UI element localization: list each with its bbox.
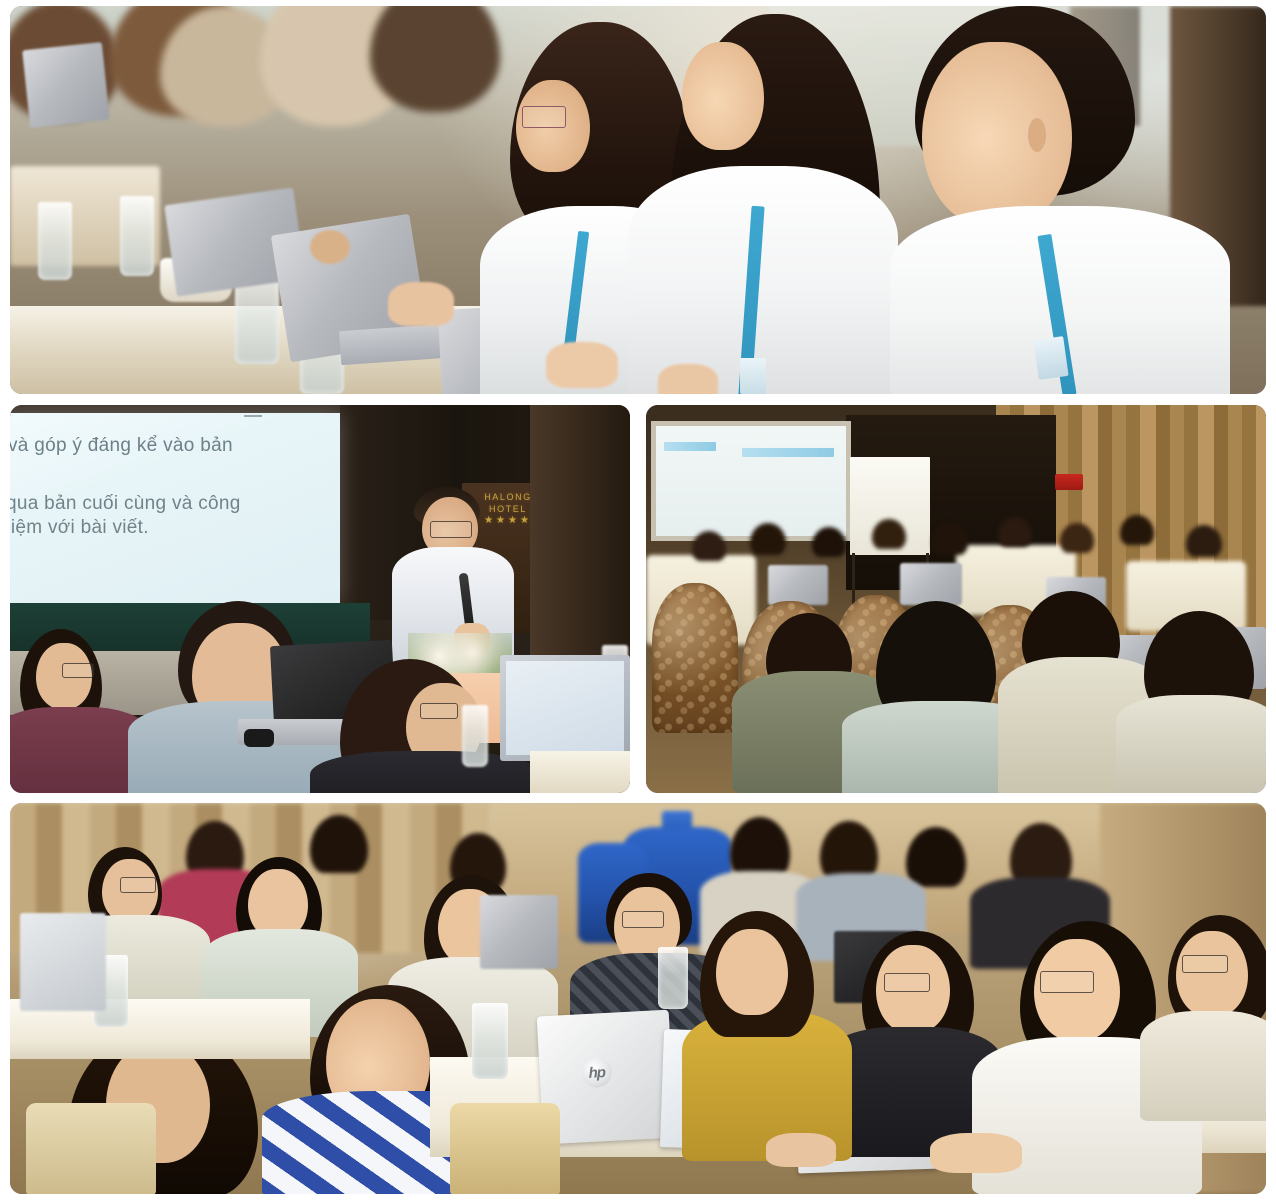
water-glass — [658, 947, 688, 1009]
banquet-chair — [652, 583, 738, 733]
eyeglasses — [120, 877, 156, 893]
projection-screen — [651, 421, 851, 541]
wristwatch — [310, 230, 350, 264]
person-ear — [1028, 118, 1046, 152]
person-top — [1116, 695, 1266, 793]
computer-mouse — [244, 729, 274, 747]
slide-text-line-1: và góp ý đáng kể vào bản — [10, 435, 233, 457]
table-cloth — [530, 751, 630, 793]
name-badge — [1033, 336, 1068, 380]
photo-mid-left-speaker-at-podium: và góp ý đáng kể vào bản qua bản cuối cù… — [10, 405, 630, 793]
water-glass — [120, 196, 154, 276]
person-head — [1176, 931, 1248, 1017]
photo-mid-right-conference-room-wide — [646, 405, 1266, 793]
eyeglasses — [522, 106, 566, 128]
person-top — [1140, 1011, 1266, 1121]
screen-header-bar — [742, 448, 834, 457]
eyeglasses — [1040, 971, 1094, 993]
person-head — [922, 42, 1072, 227]
banquet-chair — [26, 1103, 156, 1194]
slide-text-line-2: qua bản cuối cùng và công — [10, 493, 241, 515]
photo-top-delegates-at-laptops — [10, 6, 1266, 394]
hand — [766, 1133, 836, 1167]
laptop-screen — [506, 661, 624, 755]
laptop — [480, 895, 558, 969]
eyeglasses — [420, 703, 458, 719]
eyeglasses — [62, 663, 94, 678]
screen-header-bar — [664, 442, 716, 451]
laptop — [20, 913, 106, 1011]
person-head-distant — [692, 531, 726, 561]
person-head-distant — [750, 523, 786, 555]
water-glass — [462, 705, 488, 767]
water-glass — [38, 202, 72, 280]
chair-pattern — [652, 583, 738, 733]
banquet-chair — [450, 1103, 560, 1194]
person-head-distant — [1120, 515, 1154, 545]
speaker-eyeglasses — [430, 521, 472, 538]
person-head — [682, 42, 764, 150]
hand — [930, 1133, 1022, 1173]
hand — [388, 282, 454, 326]
person-head-distant — [872, 519, 906, 549]
hp-logo-icon: hp — [581, 1057, 613, 1089]
hand — [546, 342, 618, 388]
slide-divider — [244, 415, 262, 417]
name-badge — [740, 358, 766, 394]
photo-bottom-audience-with-laptops: hp hp hp — [10, 803, 1266, 1194]
person-head-distant — [998, 517, 1032, 547]
laptop — [22, 42, 110, 128]
audience-foreground — [10, 601, 630, 793]
laptop — [768, 565, 828, 605]
hand — [658, 364, 718, 394]
blurred-figure — [370, 6, 500, 112]
eyeglasses — [1182, 955, 1228, 973]
projection-screen: và góp ý đáng kể vào bản qua bản cuối cù… — [10, 413, 340, 603]
person-head-distant — [1186, 525, 1222, 557]
exit-sign-icon — [1055, 474, 1083, 490]
person-head — [716, 929, 788, 1015]
laptop — [900, 563, 962, 605]
person-head-distant — [932, 523, 968, 555]
slide-text-line-3: hiệm với bài viết. — [10, 517, 149, 539]
person-head-distant — [812, 527, 846, 557]
eyeglasses — [884, 973, 930, 992]
water-glass — [472, 1003, 508, 1079]
photo-collage-page: và góp ý đáng kể vào bản qua bản cuối cù… — [0, 0, 1276, 1200]
person-head-distant — [1060, 523, 1094, 553]
eyeglasses — [622, 911, 664, 928]
